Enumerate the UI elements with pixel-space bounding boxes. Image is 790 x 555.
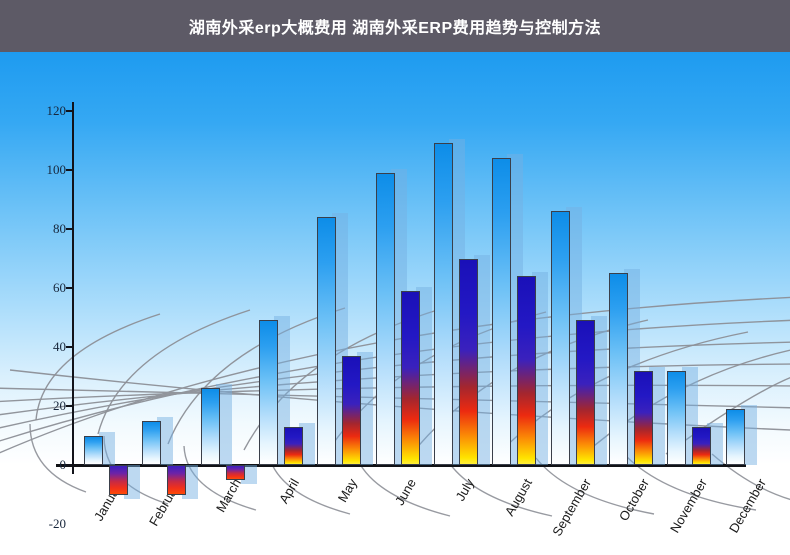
bar-series-2[interactable] [634,371,653,465]
y-tick-label: 40 [24,339,66,355]
page-title: 湖南外采erp大概费用 湖南外采ERP费用趋势与控制方法 [189,14,601,38]
x-axis-label-text: June [392,476,419,508]
title-bar: 湖南外采erp大概费用 湖南外采ERP费用趋势与控制方法 [0,0,790,52]
y-tick-label: 60 [24,280,66,296]
x-axis-label-text: November [667,476,710,535]
bar-series-1[interactable] [609,273,628,465]
y-tick-label: -20 [24,516,66,532]
bar-series-2[interactable] [226,465,245,480]
bar-series-1[interactable] [84,436,103,466]
x-axis-label-text: May [335,476,360,505]
bar-series-1[interactable] [551,211,570,465]
bar-series-1[interactable] [317,217,336,465]
x-axis-label-text: March [213,476,244,515]
bar-series-1[interactable] [667,371,686,465]
bar-series-2[interactable] [517,276,536,465]
bar-series-2[interactable] [342,356,361,465]
x-axis-label-text: September [549,476,594,539]
bar-series-1[interactable] [259,320,278,465]
bar-series-2[interactable] [692,427,711,465]
bar-series-2[interactable] [401,291,420,465]
bar-series-1[interactable] [434,143,453,465]
x-axis-label-text: July [452,476,477,504]
x-axis-label-text: December [726,476,769,535]
bar-series-1[interactable] [142,421,161,465]
y-tick-label: 20 [24,398,66,414]
bar-series-1[interactable] [376,173,395,465]
bar-series-2[interactable] [284,427,303,465]
bar-series-1[interactable] [492,158,511,465]
bar-series-2[interactable] [109,465,128,495]
bar-series-2[interactable] [576,320,595,465]
bar-series-1[interactable] [726,409,745,465]
y-tick-label: 100 [24,162,66,178]
bar-series-2[interactable] [459,259,478,466]
bar-series-2[interactable] [167,465,186,495]
y-tick-label: 120 [24,103,66,119]
y-tick-label: 80 [24,221,66,237]
chart-screenshot: 湖南外采erp大概费用 湖南外采ERP费用趋势与控制方法 [0,0,790,555]
x-axis-label-text: August [502,476,535,519]
x-axis-label-text: October [616,476,652,524]
chart-canvas: -20020406080100120 JanuaryFebruaryMarchA… [0,52,790,555]
y-tick-label: 0 [24,457,66,473]
bar-series-1[interactable] [201,388,220,465]
x-axis-label-text: April [276,476,302,506]
